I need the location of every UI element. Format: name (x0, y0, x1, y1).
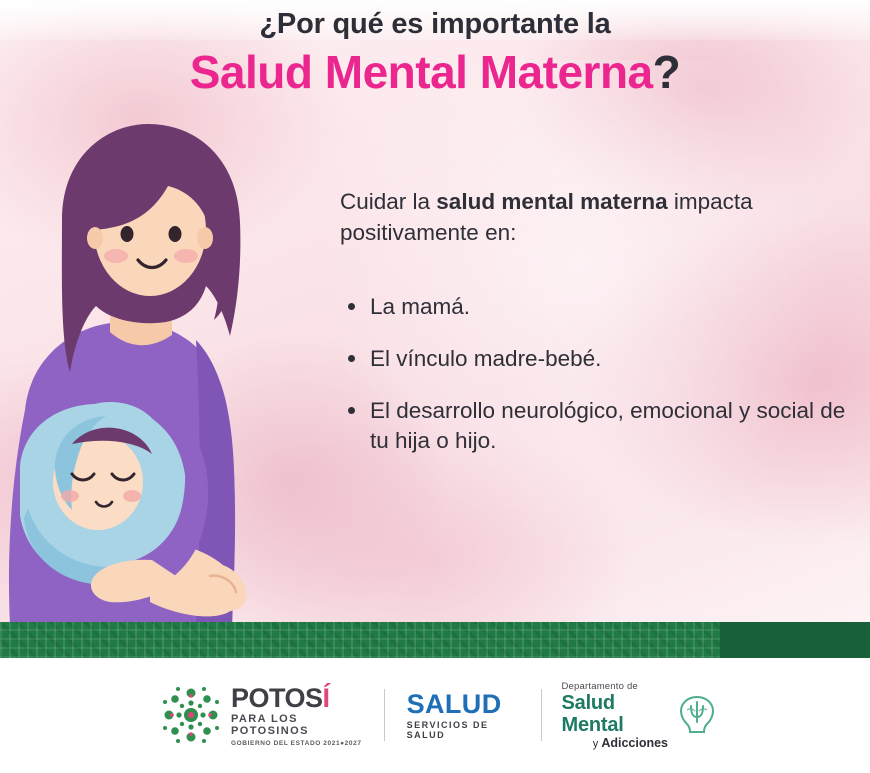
salud-logo: SALUD SERVICIOS DE SALUD (407, 690, 521, 740)
potosi-subtitle-2: GOBIERNO DEL ESTADO 2021●2027 (231, 740, 362, 747)
departamento-sub-label: y Adicciones (593, 736, 668, 750)
headline-question-mark: ? (653, 46, 681, 98)
departamento-logo: Departamento de Salud Mental y Adiccione… (562, 681, 721, 750)
footer: POTOSÍ PARA LOS POTOSINOS GOBIERNO DEL E… (0, 658, 870, 773)
band-dark-segment (720, 622, 870, 658)
headline-line-2: Salud Mental Materna? (0, 44, 870, 100)
list-item: La mamá. (342, 292, 852, 322)
departamento-wordmark: Departamento de Salud Mental y Adiccione… (562, 681, 669, 750)
footer-divider-2 (541, 689, 542, 741)
departamento-top-label: Departamento de (562, 681, 638, 692)
green-decorative-band (0, 622, 870, 658)
potosi-subtitle: PARA LOS POTOSINOS (231, 713, 362, 737)
benefits-list: La mamá. El vínculo madre-bebé. El desar… (342, 292, 852, 478)
potosi-title: POTOSÍ (231, 684, 362, 712)
potosi-logo: POTOSÍ PARA LOS POTOSINOS GOBIERNO DEL E… (160, 684, 362, 747)
headline-title-text: Salud Mental Materna (190, 46, 653, 98)
footer-logos: POTOSÍ PARA LOS POTOSINOS GOBIERNO DEL E… (160, 672, 720, 758)
mother-and-baby-illustration (0, 110, 330, 625)
salud-subtitle: SERVICIOS DE SALUD (407, 720, 521, 740)
body-intro-before: Cuidar la (340, 189, 436, 214)
body-intro-bold: salud mental materna (436, 189, 667, 214)
potosi-wordmark: POTOSÍ PARA LOS POTOSINOS GOBIERNO DEL E… (231, 684, 362, 747)
headline: ¿Por qué es importante la Salud Mental M… (0, 6, 870, 100)
footer-divider-1 (384, 689, 385, 741)
potosi-emblem-icon (160, 684, 222, 746)
headline-line-1: ¿Por qué es importante la (0, 6, 870, 42)
poster: ¿Por qué es importante la Salud Mental M… (0, 0, 870, 773)
list-item: El vínculo madre-bebé. (342, 344, 852, 374)
potosi-title-main: POTOS (231, 683, 323, 713)
salud-title: SALUD (407, 690, 521, 718)
departamento-main-label: Salud Mental (562, 692, 669, 736)
brain-psi-icon (674, 692, 720, 738)
list-item: El desarrollo neurológico, emocional y s… (342, 396, 852, 456)
body-intro: Cuidar la salud mental materna impacta p… (340, 186, 852, 248)
potosi-title-accent: Í (323, 683, 330, 713)
departamento-sub-text: Adicciones (601, 736, 668, 750)
